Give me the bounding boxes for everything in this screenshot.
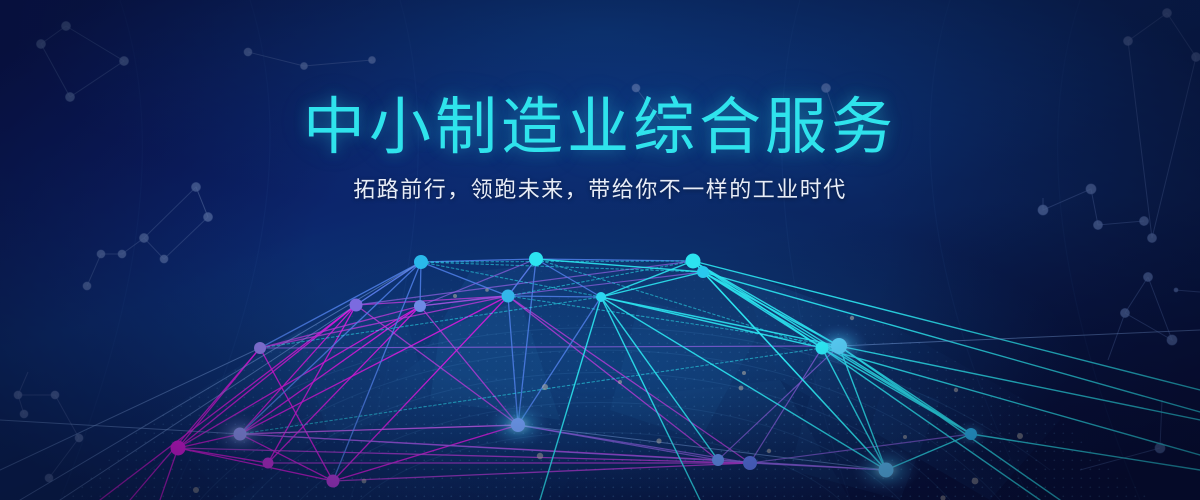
hero-banner: 中小制造业综合服务 拓路前行，领跑未来，带给你不一样的工业时代 (0, 0, 1200, 500)
background-vignette (0, 0, 1200, 500)
hero-text-block: 中小制造业综合服务 拓路前行，领跑未来，带给你不一样的工业时代 (0, 96, 1200, 202)
page-subtitle: 拓路前行，领跑未来，带给你不一样的工业时代 (0, 180, 1200, 202)
page-title: 中小制造业综合服务 (0, 96, 1200, 158)
